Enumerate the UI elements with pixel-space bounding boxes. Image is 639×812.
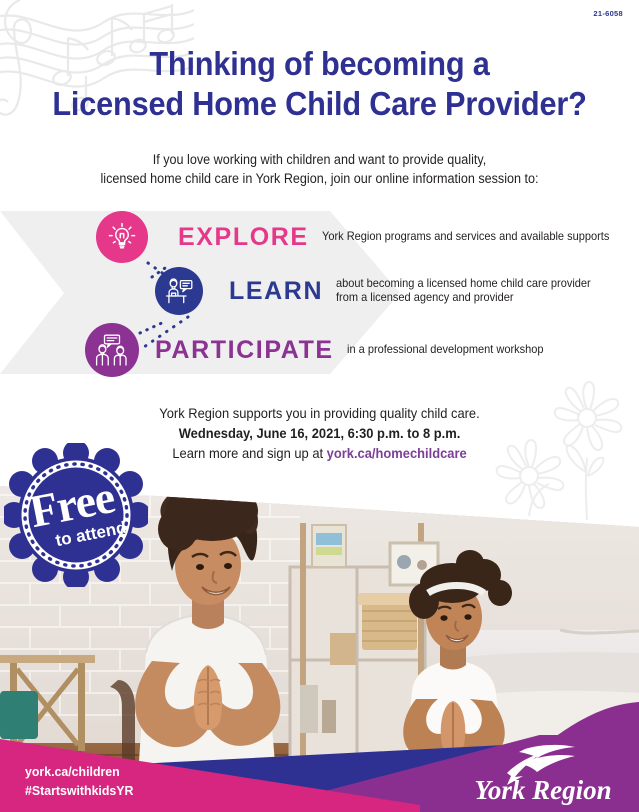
free-badge: Free to attend — [4, 443, 148, 587]
headline-line-2: Licensed Home Child Care Provider? — [22, 84, 616, 124]
steps-list: EXPLORE York Region programs and service… — [0, 205, 639, 385]
explore-keyword: EXPLORE — [178, 225, 309, 250]
poster: 21-6058 Thinking of becoming a Licensed … — [0, 0, 639, 812]
headline-line-1: Thinking of becoming a — [149, 45, 489, 82]
step-learn: LEARN about becoming a licensed home chi… — [155, 267, 604, 315]
learn-description: about becoming a licensed home child car… — [336, 277, 591, 306]
footer-links: york.ca/children #StartswithkidsYR — [25, 763, 133, 801]
footer-website[interactable]: york.ca/children — [25, 763, 133, 782]
participate-icon-circle — [85, 323, 139, 377]
free-badge-text: Free to attend — [0, 431, 160, 600]
page-title: Thinking of becoming a Licensed Home Chi… — [22, 44, 616, 125]
explore-description: York Region programs and services and av… — [322, 230, 609, 244]
lightbulb-icon — [105, 220, 139, 254]
york-region-logo-text: York Region — [474, 775, 611, 805]
details-line-1: York Region supports you in providing qu… — [16, 404, 623, 424]
footer-hashtag: #StartswithkidsYR — [25, 782, 133, 801]
explore-icon-circle — [96, 211, 148, 263]
york-region-logo: York Region — [463, 743, 623, 805]
intro-line-1: If you love working with children and wa… — [19, 150, 620, 169]
intro-line-2: licensed home child care in York Region,… — [19, 169, 620, 188]
intro-text: If you love working with children and wa… — [19, 150, 620, 188]
participate-description: in a professional development workshop — [347, 343, 544, 357]
footer: york.ca/children #StartswithkidsYR York … — [0, 735, 639, 812]
participate-keyword: PARTICIPATE — [155, 338, 334, 363]
person-at-desk-icon — [163, 275, 196, 308]
two-people-talking-icon — [93, 331, 131, 369]
learn-keyword: LEARN — [229, 279, 323, 304]
step-participate: PARTICIPATE in a professional developmen… — [85, 323, 554, 377]
learn-icon-circle — [155, 267, 203, 315]
step-explore: EXPLORE York Region programs and service… — [96, 211, 624, 263]
document-code: 21-6058 — [593, 9, 623, 18]
